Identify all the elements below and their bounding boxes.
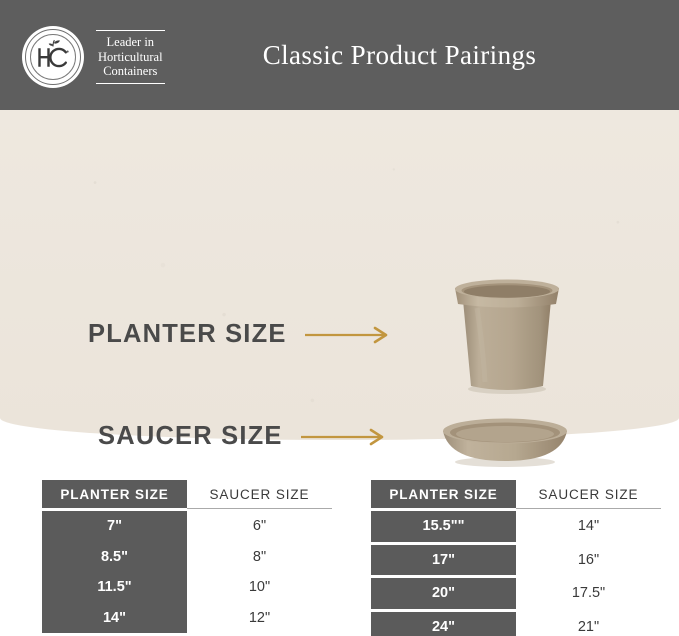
- column-header-saucer-size: SAUCER SIZE: [187, 480, 332, 508]
- cell-saucer-size: 17.5": [516, 578, 661, 609]
- cell-saucer-size: 6": [187, 511, 332, 542]
- table-row: 14" 12": [42, 603, 332, 634]
- hero-panel: PLANTER SIZE SAUCER SIZE: [0, 110, 679, 440]
- cell-saucer-size: 12": [187, 603, 332, 634]
- saucer-callout: SAUCER SIZE: [98, 422, 389, 451]
- table-header-row: PLANTER SIZE SAUCER SIZE: [371, 480, 661, 508]
- table-body: 15.5"" 14" 17" 16" 20" 17.5" 24" 21": [371, 511, 661, 636]
- table-large-sizes: PLANTER SIZE SAUCER SIZE 15.5"" 14" 17" …: [371, 480, 661, 636]
- cell-saucer-size: 8": [187, 542, 332, 573]
- arrow-right-icon: [305, 326, 393, 344]
- column-header-planter-size: PLANTER SIZE: [371, 480, 516, 508]
- column-header-saucer-size: SAUCER SIZE: [516, 480, 661, 508]
- infographic-page: Leader in Horticultural Containers Class…: [0, 0, 679, 636]
- cell-planter-size: 7": [42, 511, 187, 542]
- table-row: 20" 17.5": [371, 578, 661, 609]
- table-row: 7" 6": [42, 511, 332, 542]
- table-body: 7" 6" 8.5" 8" 11.5" 10" 14" 12": [42, 511, 332, 633]
- table-row: 17" 16": [371, 545, 661, 576]
- cell-planter-size: 15.5"": [371, 511, 516, 542]
- saucer-image: [437, 415, 573, 469]
- table-header-row: PLANTER SIZE SAUCER SIZE: [42, 480, 332, 508]
- cell-saucer-size: 16": [516, 545, 661, 576]
- table-row: 15.5"" 14": [371, 511, 661, 542]
- cell-planter-size: 11.5": [42, 572, 187, 603]
- cell-planter-size: 8.5": [42, 542, 187, 573]
- table-small-sizes: PLANTER SIZE SAUCER SIZE 7" 6" 8.5" 8" 1…: [42, 480, 332, 633]
- planter-callout: PLANTER SIZE: [88, 320, 393, 349]
- table-row: 8.5" 8": [42, 542, 332, 573]
- cell-planter-size: 14": [42, 603, 187, 634]
- table-row: 24" 21": [371, 612, 661, 636]
- cell-saucer-size: 14": [516, 511, 661, 542]
- table-row: 11.5" 10": [42, 572, 332, 603]
- cell-planter-size: 24": [371, 612, 516, 636]
- cell-planter-size: 17": [371, 545, 516, 576]
- cell-saucer-size: 10": [187, 572, 332, 603]
- planter-size-label: PLANTER SIZE: [88, 320, 287, 349]
- header-bar: Leader in Horticultural Containers Class…: [0, 0, 679, 110]
- arrow-right-icon: [301, 428, 389, 446]
- cell-planter-size: 20": [371, 578, 516, 609]
- page-title: Classic Product Pairings: [0, 0, 679, 110]
- saucer-size-label: SAUCER SIZE: [98, 422, 283, 451]
- planter-image: [443, 278, 571, 396]
- size-chart-tables: PLANTER SIZE SAUCER SIZE 7" 6" 8.5" 8" 1…: [0, 480, 679, 636]
- column-header-planter-size: PLANTER SIZE: [42, 480, 187, 508]
- cell-saucer-size: 21": [516, 612, 661, 636]
